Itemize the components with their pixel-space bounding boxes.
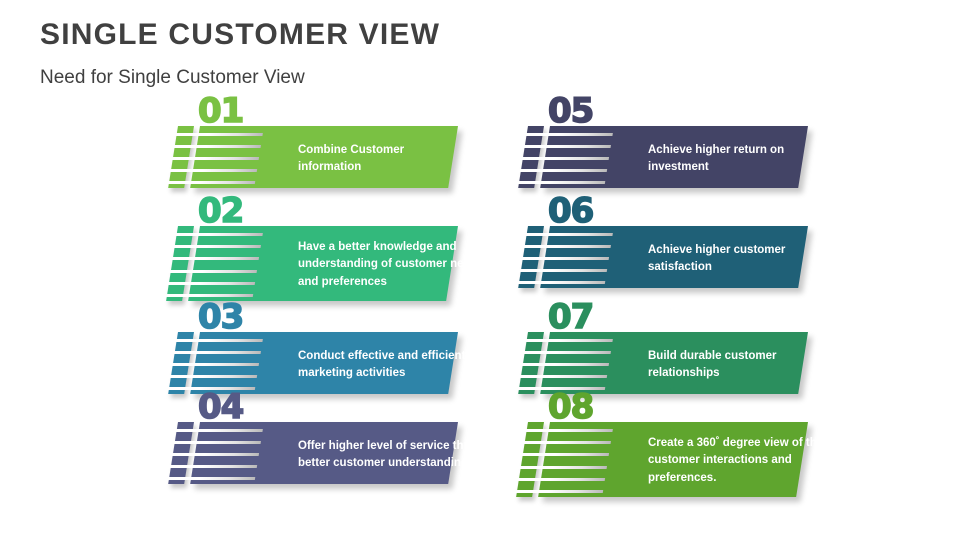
benefit-item-04[interactable]: 04Offer higher level of service throughb…: [170, 394, 470, 494]
benefit-number-label: 02: [198, 194, 243, 228]
benefit-text: Offer higher level of service throughbet…: [298, 422, 478, 488]
benefit-number-label: 05: [548, 94, 593, 128]
benefit-text-line: Achieve higher return on: [648, 142, 828, 159]
benefit-text-line: information: [298, 159, 478, 176]
benefit-text-line: Conduct effective and efficient: [298, 348, 478, 365]
benefit-text: Build durable customerrelationships: [648, 332, 828, 398]
benefit-number-07: 07: [548, 300, 593, 334]
benefit-text: Combine Customerinformation: [298, 126, 478, 192]
benefit-text-line: better customer understanding: [298, 455, 478, 472]
benefit-number-02: 02: [198, 194, 243, 228]
benefit-item-08[interactable]: 08Create a 360˚ degree view of thecustom…: [520, 394, 820, 494]
benefit-text-line: satisfaction: [648, 259, 828, 276]
benefit-text: Have a better knowledge andunderstanding…: [298, 226, 478, 304]
page-subtitle: Need for Single Customer View: [40, 67, 440, 89]
banner-left-strip: [168, 422, 194, 484]
benefit-number-label: 07: [548, 300, 593, 334]
banner-left-strip: [518, 332, 544, 394]
benefit-text-line: relationships: [648, 365, 828, 382]
benefit-text-line: Have a better knowledge and: [298, 239, 478, 256]
benefit-number-04: 04: [198, 390, 243, 424]
benefit-text: Create a 360˚ degree view of thecustomer…: [648, 422, 828, 500]
benefit-number-label: 03: [198, 300, 243, 334]
benefit-text-line: customer interactions and: [648, 452, 828, 469]
benefits-list: 01Combine Customerinformation02Have a be…: [0, 96, 960, 516]
benefit-number-05: 05: [548, 94, 593, 128]
benefit-number-label: 04: [198, 390, 243, 424]
benefit-item-02[interactable]: 02Have a better knowledge andunderstandi…: [170, 198, 470, 298]
benefit-text-line: Offer higher level of service through: [298, 438, 478, 455]
benefit-text-line: Build durable customer: [648, 348, 828, 365]
benefit-number-01: 01: [198, 94, 243, 128]
banner-left-strip: [168, 126, 194, 188]
benefit-text-line: Combine Customer: [298, 142, 478, 159]
benefit-number-06: 06: [548, 194, 593, 228]
benefit-text-line: preferences.: [648, 470, 828, 487]
benefit-item-05[interactable]: 05Achieve higher return oninvestment: [520, 98, 820, 198]
benefit-text-line: Create a 360˚ degree view of the: [648, 435, 828, 452]
benefit-item-06[interactable]: 06Achieve higher customersatisfaction: [520, 198, 820, 298]
benefit-text: Achieve higher return oninvestment: [648, 126, 828, 192]
benefit-number-label: 01: [198, 94, 243, 128]
benefit-number-label: 06: [548, 194, 593, 228]
page-title: SINGLE CUSTOMER VIEW: [40, 18, 440, 53]
benefit-number-08: 08: [548, 390, 593, 424]
benefit-text-line: and preferences: [298, 274, 478, 291]
benefit-text: Conduct effective and efficientmarketing…: [298, 332, 478, 398]
banner-left-strip: [518, 226, 544, 288]
banner-left-strip: [518, 126, 544, 188]
benefit-text-line: investment: [648, 159, 828, 176]
benefit-text-line: marketing activities: [298, 365, 478, 382]
benefit-item-01[interactable]: 01Combine Customerinformation: [170, 98, 470, 198]
benefit-text-line: understanding of customer needs: [298, 256, 478, 273]
slide-header: SINGLE CUSTOMER VIEW Need for Single Cus…: [40, 18, 440, 89]
benefit-number-label: 08: [548, 390, 593, 424]
benefit-number-03: 03: [198, 300, 243, 334]
benefit-text-line: Achieve higher customer: [648, 242, 828, 259]
banner-left-strip: [168, 332, 194, 394]
benefit-text: Achieve higher customersatisfaction: [648, 226, 828, 292]
